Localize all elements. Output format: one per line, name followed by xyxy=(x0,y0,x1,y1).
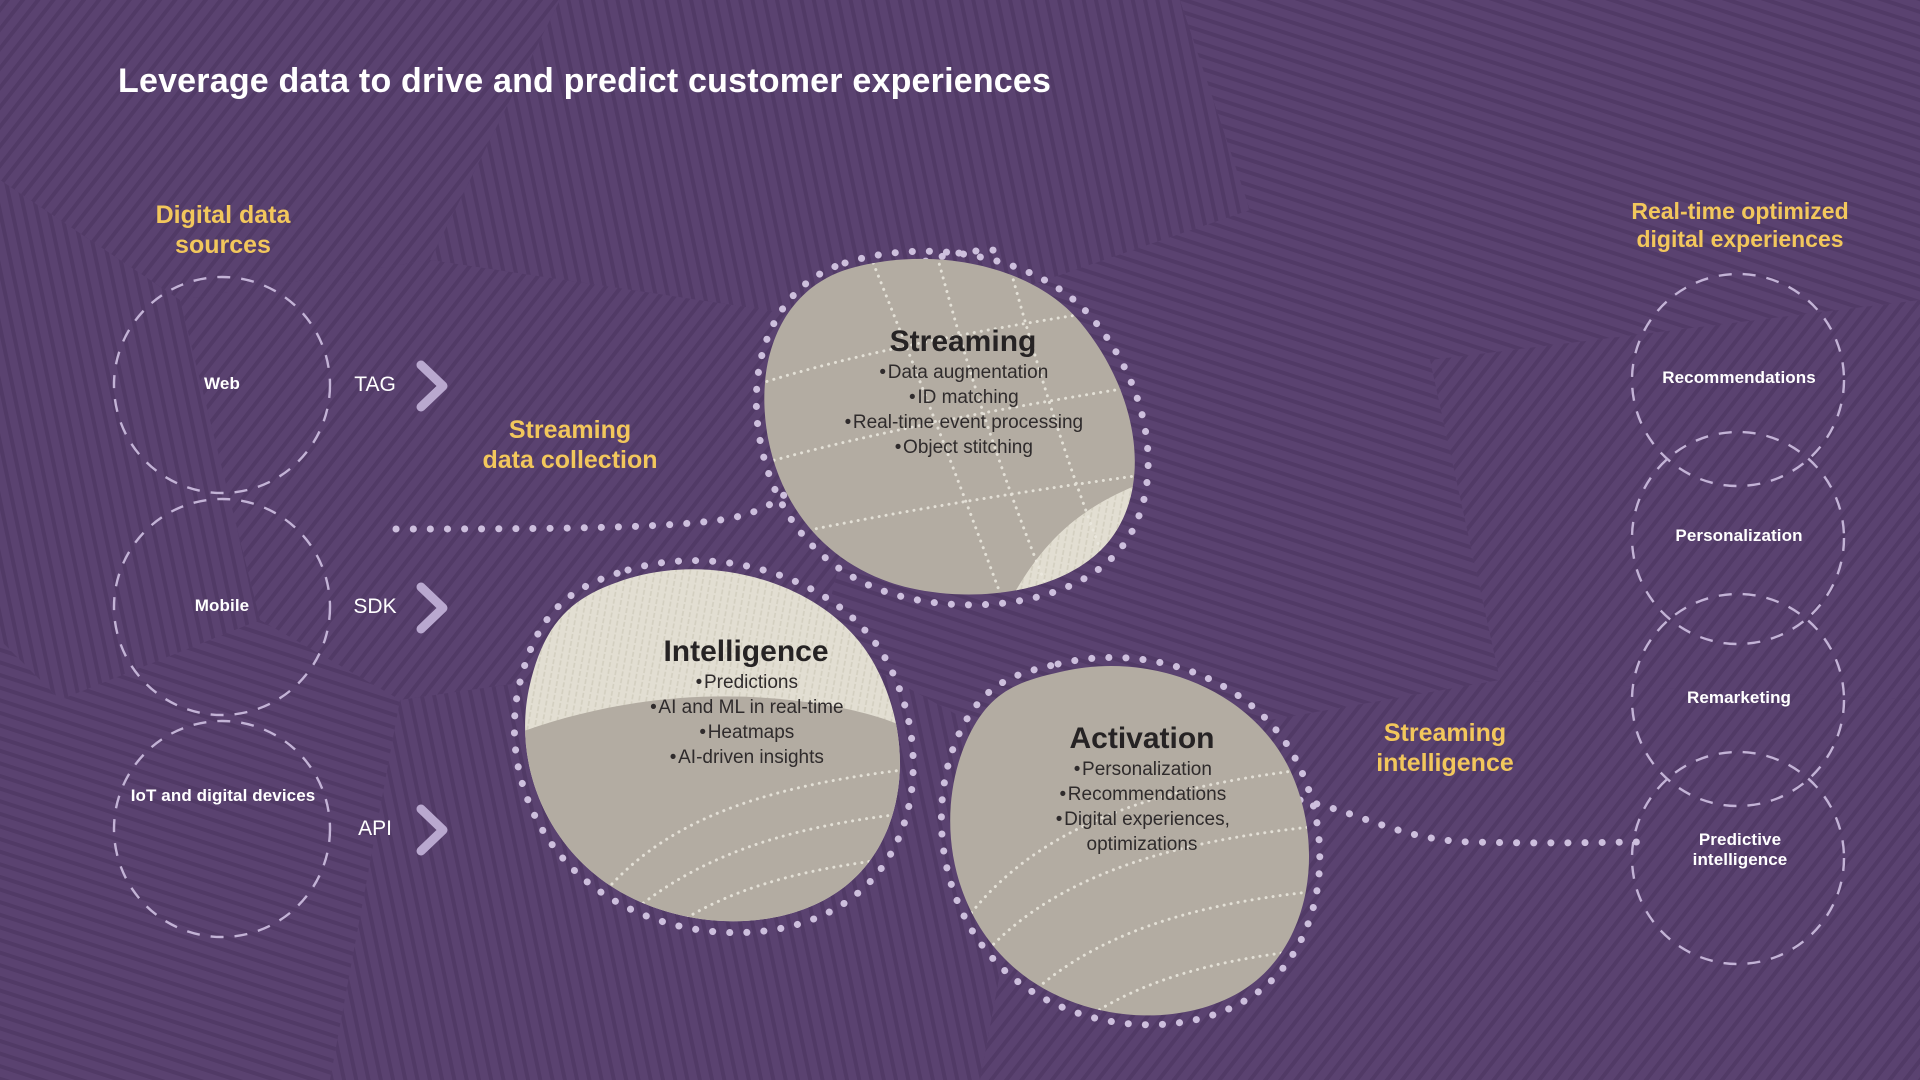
flow-label-collection: Streaming data collection xyxy=(440,415,700,475)
right-column-heading: Real-time optimized digital experiences xyxy=(1580,198,1900,253)
source-label-mobile: Mobile xyxy=(122,596,322,616)
chevron-right-icon-web xyxy=(421,365,443,407)
blob-title-intelligence: Intelligence xyxy=(612,635,880,668)
list-item: •Personalization xyxy=(1008,757,1276,782)
connector-label-tag: TAG xyxy=(335,373,415,397)
outcome-label-personalization: Personalization xyxy=(1628,526,1850,546)
blob-title-activation: Activation xyxy=(1008,722,1276,755)
chevron-right-icon-mobile xyxy=(421,587,443,629)
outcome-label-recommendations: Recommendations xyxy=(1628,368,1850,388)
list-item: •AI and ML in real-time xyxy=(612,695,880,720)
list-item: •ID matching xyxy=(828,385,1098,410)
list-item: •Data augmentation xyxy=(828,360,1098,385)
list-item: •Object stitching xyxy=(828,435,1098,460)
blob-intelligence: Intelligence •Predictions •AI and ML in … xyxy=(612,635,880,770)
blob-list-activation: •Personalization •Recommendations •Digit… xyxy=(1008,757,1276,857)
source-label-iot: IoT and digital devices xyxy=(128,786,318,806)
chevron-right-icon-iot xyxy=(421,809,443,851)
blob-streaming: Streaming •Data augmentation •ID matchin… xyxy=(828,325,1098,460)
blob-activation: Activation •Personalization •Recommendat… xyxy=(1008,722,1276,857)
slide-canvas: Leverage data to drive and predict custo… xyxy=(0,0,1920,1080)
list-item: •Recommendations xyxy=(1008,782,1276,807)
source-label-web: Web xyxy=(122,374,322,394)
blob-title-streaming: Streaming xyxy=(828,325,1098,358)
page-title: Leverage data to drive and predict custo… xyxy=(118,62,1318,101)
blob-list-streaming: •Data augmentation •ID matching •Real-ti… xyxy=(828,360,1098,460)
connector-label-sdk: SDK xyxy=(335,595,415,619)
connector-label-api: API xyxy=(335,817,415,841)
list-item: •Real-time event processing xyxy=(828,410,1098,435)
outcome-label-remarketing: Remarketing xyxy=(1628,688,1850,708)
flow-label-intelligence: Streaming intelligence xyxy=(1320,718,1570,778)
list-item: •Heatmaps xyxy=(612,720,880,745)
list-item: •Predictions xyxy=(612,670,880,695)
outcome-label-predictive-intelligence: Predictive intelligence xyxy=(1640,830,1840,870)
flow-dotted-intelligence xyxy=(1300,800,1640,843)
blob-list-intelligence: •Predictions •AI and ML in real-time •He… xyxy=(612,670,880,770)
list-item: •Digital experiences, optimizations xyxy=(1008,807,1276,857)
left-column-heading: Digital data sources xyxy=(118,200,328,260)
source-circle-iot xyxy=(114,721,330,937)
list-item: •AI-driven insights xyxy=(612,745,880,770)
